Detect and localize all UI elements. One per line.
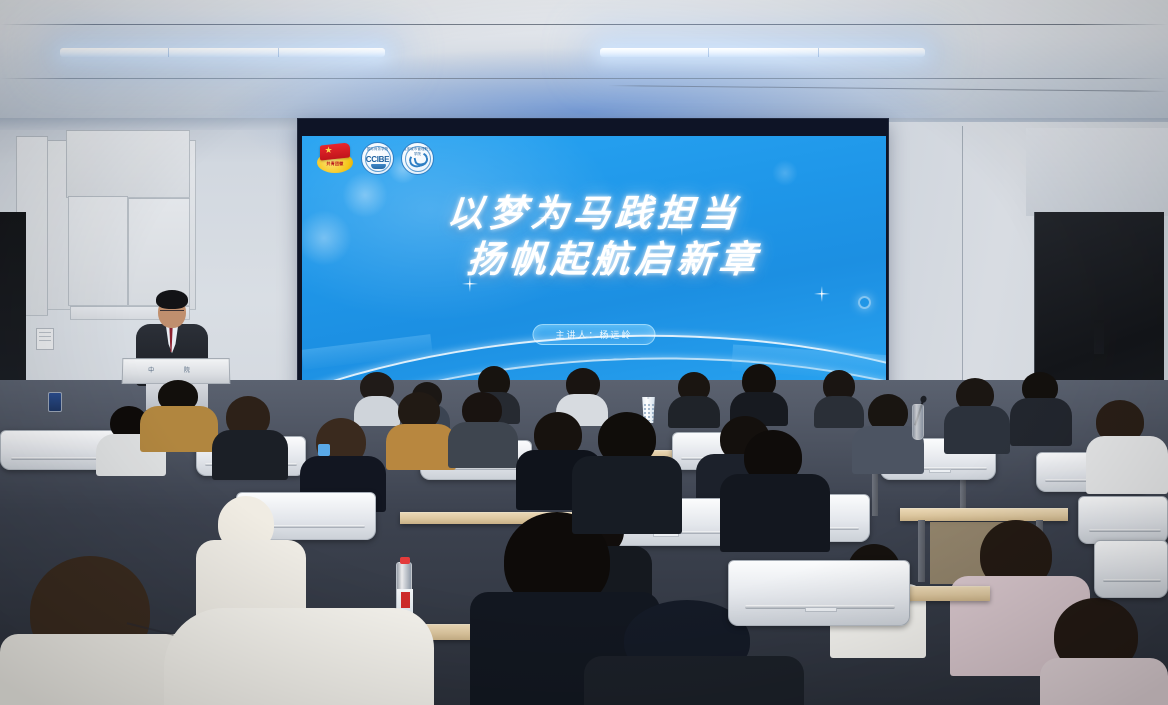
slide-title-line-1: 以梦为马践担当: [302, 192, 886, 236]
student-body: [1040, 658, 1168, 705]
lectern-label: 中 院: [123, 365, 229, 374]
chair[interactable]: [1078, 496, 1168, 544]
student-body: [448, 422, 518, 468]
bokeh-4: [772, 160, 798, 186]
wall-seam: [962, 126, 963, 416]
student-body: [140, 406, 218, 452]
ccibe-seal-icon: 国际商务学院 CCIBE: [361, 142, 394, 175]
student-body: [584, 656, 804, 705]
student: [1040, 598, 1168, 705]
student: [572, 412, 682, 532]
door-header: [1026, 128, 1168, 216]
slide-logo-row: ★ 共青团徽 国际商务学院 CCIBE 重庆城市管理职业学院: [316, 142, 434, 175]
presenter-hair: [156, 290, 188, 309]
college-seal-icon: 重庆城市管理职业学院: [401, 142, 434, 175]
student: [944, 378, 1010, 450]
lecture-hall-photo: ★ 共青团徽 国际商务学院 CCIBE 重庆城市管理职业学院 以梦为马践担当 扬…: [0, 0, 1168, 705]
student-body: [1010, 398, 1072, 446]
presenter-glasses: [160, 310, 184, 314]
student-body: [944, 406, 1010, 454]
ccibe-seal-acronym: CCIBE: [362, 155, 393, 164]
cabinet-door-left[interactable]: [68, 196, 128, 306]
ccibe-seal-ring-top: 国际商务学院: [362, 146, 393, 151]
student: [212, 396, 288, 476]
student: [730, 364, 788, 422]
light-strip-1: [60, 48, 385, 57]
sparkle-4: [462, 276, 478, 292]
student-body: [164, 608, 434, 705]
student: [164, 596, 434, 705]
student: [140, 380, 218, 444]
chair[interactable]: [1094, 540, 1168, 598]
wall-switch-plate[interactable]: [36, 328, 54, 350]
student: [720, 430, 830, 548]
party-flag-emblem-icon: ★ 共青团徽: [316, 143, 354, 175]
student: [386, 392, 456, 464]
sparkle-3: [814, 286, 830, 302]
light-strip-2: [600, 48, 925, 57]
student: [448, 392, 518, 462]
student-body: [386, 424, 456, 470]
chair[interactable]: [728, 560, 910, 626]
party-flag-mini-text: 共青团徽: [321, 161, 349, 167]
student: [1010, 372, 1072, 442]
sparkle-1: [538, 210, 554, 226]
bokeh-ring: [858, 296, 871, 309]
water-bottle-far: [912, 404, 924, 440]
student-body: [572, 456, 682, 534]
smartphone[interactable]: [48, 392, 62, 412]
student-body: [212, 430, 288, 480]
slide-title: 以梦为马践担当 扬帆起航启新章: [302, 192, 886, 281]
student-body: [720, 474, 830, 552]
student-body: [1086, 436, 1168, 494]
slide-title-line-2: 扬帆起航启新章: [340, 238, 886, 282]
bottle-cap: [400, 557, 410, 564]
cabinet-upper-mid: [66, 130, 190, 198]
sparkle-2: [674, 220, 690, 236]
ceiling: [0, 0, 1168, 122]
doorway-right-inner-object: [1094, 320, 1104, 354]
student: [1086, 400, 1168, 490]
hair-clip: [318, 444, 330, 456]
